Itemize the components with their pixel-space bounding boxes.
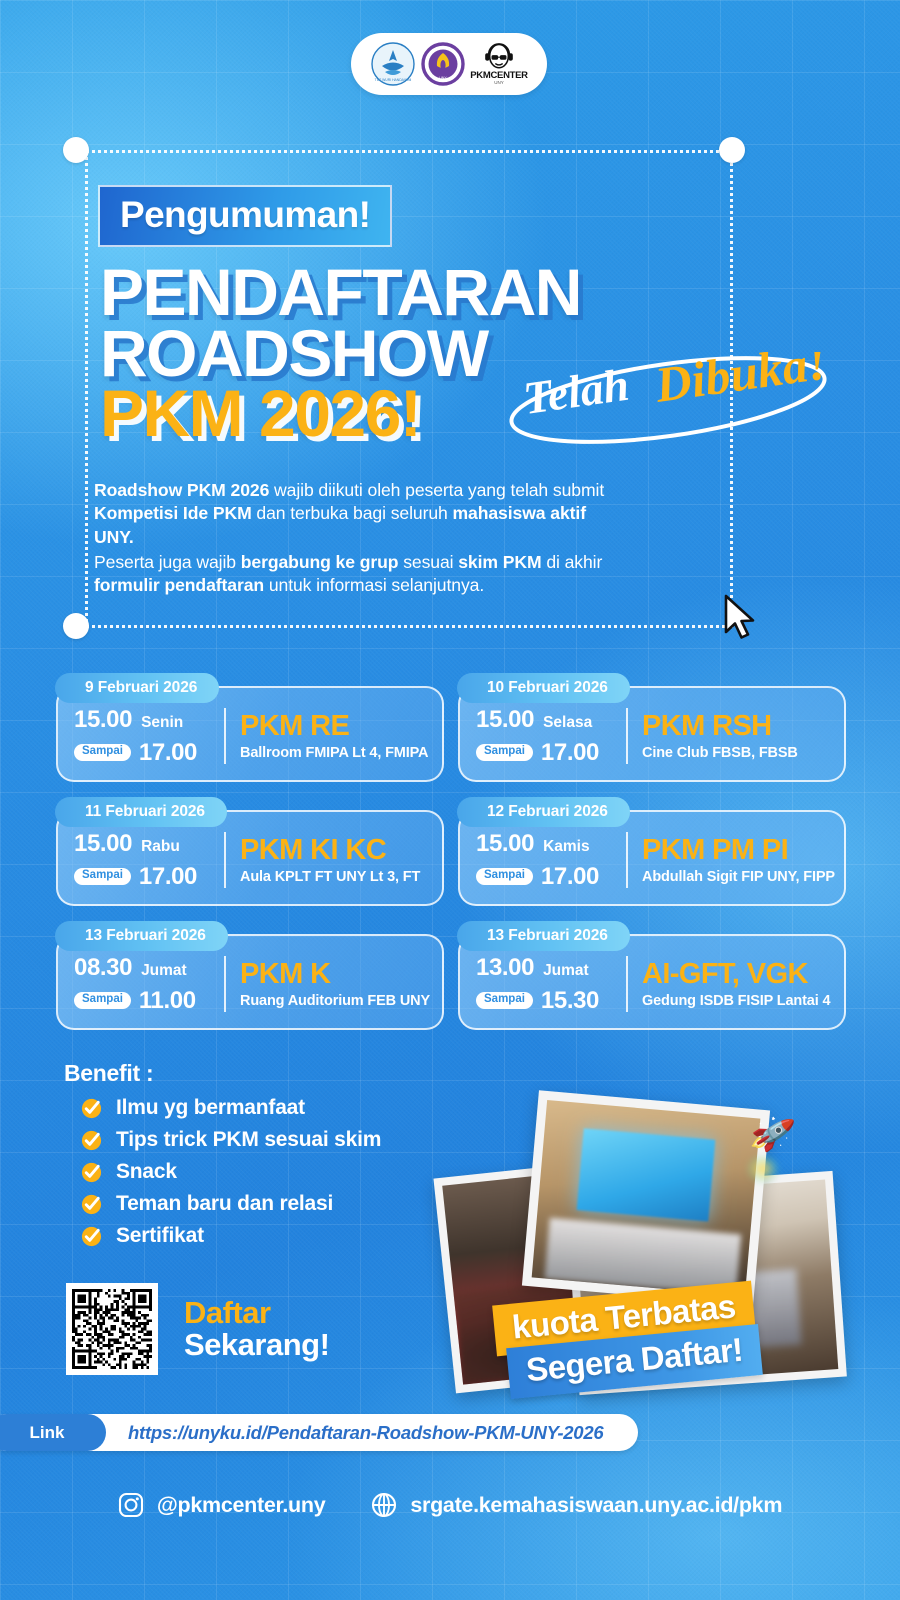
pkmcenter-logo-title: PKMCENTER — [470, 71, 527, 81]
check-badge-icon — [80, 1193, 103, 1216]
schedule-date: 13 Februari 2026 — [457, 921, 630, 951]
schedule-info-column: PKM RSHCine Club FBSB, FBSB — [642, 711, 844, 760]
schedule-end-time: 11.00 — [139, 987, 196, 1015]
schedule-venue: Gedung ISDB FISIP Lantai 4 — [642, 993, 844, 1009]
schedule-time-column: 15.00RabuSampai17.00 — [74, 830, 222, 891]
check-badge-icon — [80, 1225, 103, 1248]
uny-logo: UNY — [421, 42, 465, 86]
schedule-skim: PKM RSH — [642, 711, 844, 741]
card-divider — [224, 956, 226, 1012]
registration-url[interactable]: https://unyku.id/Pendaftaran-Roadshow-PK… — [128, 1422, 603, 1444]
dibuka-word: Dibuka! — [651, 352, 830, 413]
instagram-handle: @pkmcenter.uny — [157, 1493, 326, 1518]
schedule-end-time: 15.30 — [541, 987, 599, 1015]
poster-canvas: TUT WURI HANDAYANI UNY PKMCENTER UNY — [0, 0, 900, 1600]
daftar-text-block: Daftar Sekarang! — [184, 1297, 329, 1361]
benefit-section: Benefit : Ilmu yg bermanfaatTips trick P… — [64, 1060, 381, 1256]
schedule-day: Selasa — [543, 714, 592, 732]
schedule-venue: Ruang Auditorium FEB UNY — [240, 993, 442, 1009]
schedule-day: Rabu — [141, 838, 180, 856]
schedule-date: 12 Februari 2026 — [457, 797, 630, 827]
benefit-title: Benefit : — [64, 1060, 381, 1087]
schedule-start-time: 15.00 — [476, 830, 534, 858]
schedule-start-time: 15.00 — [74, 830, 132, 858]
paragraph-text: di akhir — [542, 552, 603, 572]
schedule-time-column: 15.00KamisSampai17.00 — [476, 830, 624, 891]
footer-contacts: @pkmcenter.uny srgate.kemahasiswaan.uny.… — [0, 1492, 900, 1518]
paragraph-text: sesuai — [398, 552, 458, 572]
schedule-day: Kamis — [543, 838, 590, 856]
instagram-contact[interactable]: @pkmcenter.uny — [118, 1492, 326, 1518]
card-divider — [224, 832, 226, 888]
schedule-card[interactable]: 13 Februari 202613.00JumatSampai15.30AI-… — [458, 934, 846, 1030]
schedule-row: 11 Februari 202615.00RabuSampai17.00PKM … — [56, 796, 846, 906]
benefit-list: Ilmu yg bermanfaatTips trick PKM sesuai … — [64, 1096, 381, 1248]
pkmcenter-logo: PKMCENTER UNY — [471, 40, 527, 88]
schedule-start-time: 13.00 — [476, 954, 534, 982]
schedule-card[interactable]: 12 Februari 202615.00KamisSampai17.00PKM… — [458, 810, 846, 906]
schedule-time-column: 15.00SelasaSampai17.00 — [476, 706, 624, 767]
sekarang-label: Sekarang! — [184, 1329, 329, 1361]
logo-bar: TUT WURI HANDAYANI UNY PKMCENTER UNY — [351, 33, 547, 95]
benefit-item: Snack — [64, 1160, 381, 1184]
selection-handle-top-left[interactable] — [63, 137, 89, 163]
schedule-start-time: 15.00 — [74, 706, 132, 734]
schedule-skim: PKM KI KC — [240, 835, 442, 865]
benefit-item: Tips trick PKM sesuai skim — [64, 1128, 381, 1152]
schedule-time-column: 15.00SeninSampai17.00 — [74, 706, 222, 767]
registration-link-bar[interactable]: Link https://unyku.id/Pendaftaran-Roadsh… — [0, 1414, 638, 1451]
sampai-badge: Sampai — [476, 744, 533, 761]
website-contact[interactable]: srgate.kemahasiswaan.uny.ac.id/pkm — [371, 1492, 782, 1518]
sampai-badge: Sampai — [74, 992, 131, 1009]
card-divider — [626, 832, 628, 888]
paragraph-emphasis: skim PKM — [458, 552, 541, 572]
paragraph-text: wajib diikuti oleh peserta yang telah su… — [269, 480, 604, 500]
registration-cta[interactable]: Daftar Sekarang! — [66, 1283, 329, 1375]
schedule-venue: Aula KPLT FT UNY Lt 3, FT — [240, 869, 442, 885]
schedule-card[interactable]: 10 Februari 202615.00SelasaSampai17.00PK… — [458, 686, 846, 782]
selection-handle-top-right[interactable] — [719, 137, 745, 163]
schedule-venue: Ballroom FMIPA Lt 4, FMIPA — [240, 745, 442, 761]
benefit-item-label: Teman baru dan relasi — [116, 1192, 333, 1216]
announcement-label: Pengumuman! — [120, 194, 370, 235]
schedule-date: 9 Februari 2026 — [55, 673, 219, 703]
schedule-end-time: 17.00 — [541, 739, 599, 767]
announcement-badge: Pengumuman! — [98, 185, 392, 247]
selection-handle-bottom-left[interactable] — [63, 613, 89, 639]
check-badge-icon — [80, 1161, 103, 1184]
link-chip-label: Link — [0, 1414, 106, 1451]
pkmcenter-mascot-icon — [479, 43, 519, 71]
sampai-badge: Sampai — [476, 992, 533, 1009]
schedule-start-time: 15.00 — [476, 706, 534, 734]
paragraph-emphasis: bergabung ke grup — [241, 552, 399, 572]
sampai-badge: Sampai — [74, 744, 131, 761]
intro-paragraph-2: Peserta juga wajib bergabung ke grup ses… — [94, 551, 614, 598]
schedule-skim: AI-GFT, VGK — [642, 959, 844, 989]
benefit-item-label: Snack — [116, 1160, 177, 1184]
schedule-info-column: AI-GFT, VGKGedung ISDB FISIP Lantai 4 — [642, 959, 844, 1008]
telah-word: Telah — [520, 359, 632, 424]
schedule-date: 13 Februari 2026 — [55, 921, 228, 951]
schedule-grid: 9 Februari 202615.00SeninSampai17.00PKM … — [56, 672, 846, 1044]
schedule-info-column: PKM KRuang Auditorium FEB UNY — [240, 959, 442, 1008]
schedule-skim: PKM PM PI — [642, 835, 844, 865]
schedule-venue: Abdullah Sigit FIP UNY, FIPP — [642, 869, 844, 885]
svg-text:UNY: UNY — [439, 76, 447, 80]
schedule-skim: PKM RE — [240, 711, 442, 741]
schedule-venue: Cine Club FBSB, FBSB — [642, 745, 844, 761]
schedule-card[interactable]: 11 Februari 202615.00RabuSampai17.00PKM … — [56, 810, 444, 906]
schedule-time-column: 13.00JumatSampai15.30 — [476, 954, 624, 1015]
paragraph-emphasis: Roadshow PKM 2026 — [94, 480, 269, 500]
paragraph-text: dan terbuka bagi seluruh — [252, 503, 453, 523]
mouse-cursor-icon — [722, 594, 762, 646]
benefit-item: Sertifikat — [64, 1224, 381, 1248]
qr-code-image — [72, 1289, 152, 1369]
sampai-badge: Sampai — [476, 868, 533, 885]
benefit-item-label: Ilmu yg bermanfaat — [116, 1096, 305, 1120]
schedule-day: Senin — [141, 714, 183, 732]
schedule-skim: PKM K — [240, 959, 442, 989]
schedule-day: Jumat — [141, 962, 187, 980]
benefit-item: Teman baru dan relasi — [64, 1192, 381, 1216]
schedule-date: 10 Februari 2026 — [457, 673, 630, 703]
rocket-flame — [746, 1154, 780, 1184]
globe-icon — [371, 1492, 397, 1518]
qr-code[interactable] — [66, 1283, 158, 1375]
paragraph-emphasis: Kompetisi Ide PKM — [94, 503, 252, 523]
rocket-icon: 🚀 — [747, 1111, 797, 1159]
benefit-item-label: Tips trick PKM sesuai skim — [116, 1128, 381, 1152]
pkmcenter-logo-subtitle: UNY — [494, 81, 504, 86]
card-divider — [224, 708, 226, 764]
intro-paragraph-1: Roadshow PKM 2026 wajib diikuti oleh pes… — [94, 479, 614, 549]
website-url: srgate.kemahasiswaan.uny.ac.id/pkm — [410, 1493, 782, 1518]
svg-text:TUT WURI HANDAYANI: TUT WURI HANDAYANI — [375, 78, 412, 82]
schedule-row: 9 Februari 202615.00SeninSampai17.00PKM … — [56, 672, 846, 782]
paragraph-text: Peserta juga wajib — [94, 552, 241, 572]
schedule-row: 13 Februari 202608.30JumatSampai11.00PKM… — [56, 920, 846, 1030]
check-badge-icon — [80, 1097, 103, 1120]
telah-dibuka-stamp: Telah Dibuka! — [498, 352, 838, 444]
schedule-card[interactable]: 13 Februari 202608.30JumatSampai11.00PKM… — [56, 934, 444, 1030]
event-photo-center — [522, 1090, 770, 1305]
schedule-time-column: 08.30JumatSampai11.00 — [74, 954, 222, 1015]
schedule-day: Jumat — [543, 962, 589, 980]
schedule-date: 11 Februari 2026 — [55, 797, 227, 827]
schedule-start-time: 08.30 — [74, 954, 132, 982]
schedule-end-time: 17.00 — [541, 863, 599, 891]
benefit-item: Ilmu yg bermanfaat — [64, 1096, 381, 1120]
schedule-end-time: 17.00 — [139, 739, 197, 767]
daftar-label: Daftar — [184, 1297, 329, 1329]
schedule-info-column: PKM REBallroom FMIPA Lt 4, FMIPA — [240, 711, 442, 760]
schedule-info-column: PKM KI KCAula KPLT FT UNY Lt 3, FT — [240, 835, 442, 884]
card-divider — [626, 708, 628, 764]
schedule-card[interactable]: 9 Februari 202615.00SeninSampai17.00PKM … — [56, 686, 444, 782]
instagram-icon — [118, 1492, 144, 1518]
sampai-badge: Sampai — [74, 868, 131, 885]
schedule-info-column: PKM PM PIAbdullah Sigit FIP UNY, FIPP — [642, 835, 844, 884]
schedule-end-time: 17.00 — [139, 863, 197, 891]
paragraph-emphasis: formulir pendaftaran — [94, 575, 264, 595]
card-divider — [626, 956, 628, 1012]
check-badge-icon — [80, 1129, 103, 1152]
paragraph-text: untuk informasi selanjutnya. — [264, 575, 484, 595]
tut-wuri-handayani-logo: TUT WURI HANDAYANI — [371, 42, 415, 86]
benefit-item-label: Sertifikat — [116, 1224, 204, 1248]
title-line-3: PKM 2026! — [100, 376, 420, 450]
